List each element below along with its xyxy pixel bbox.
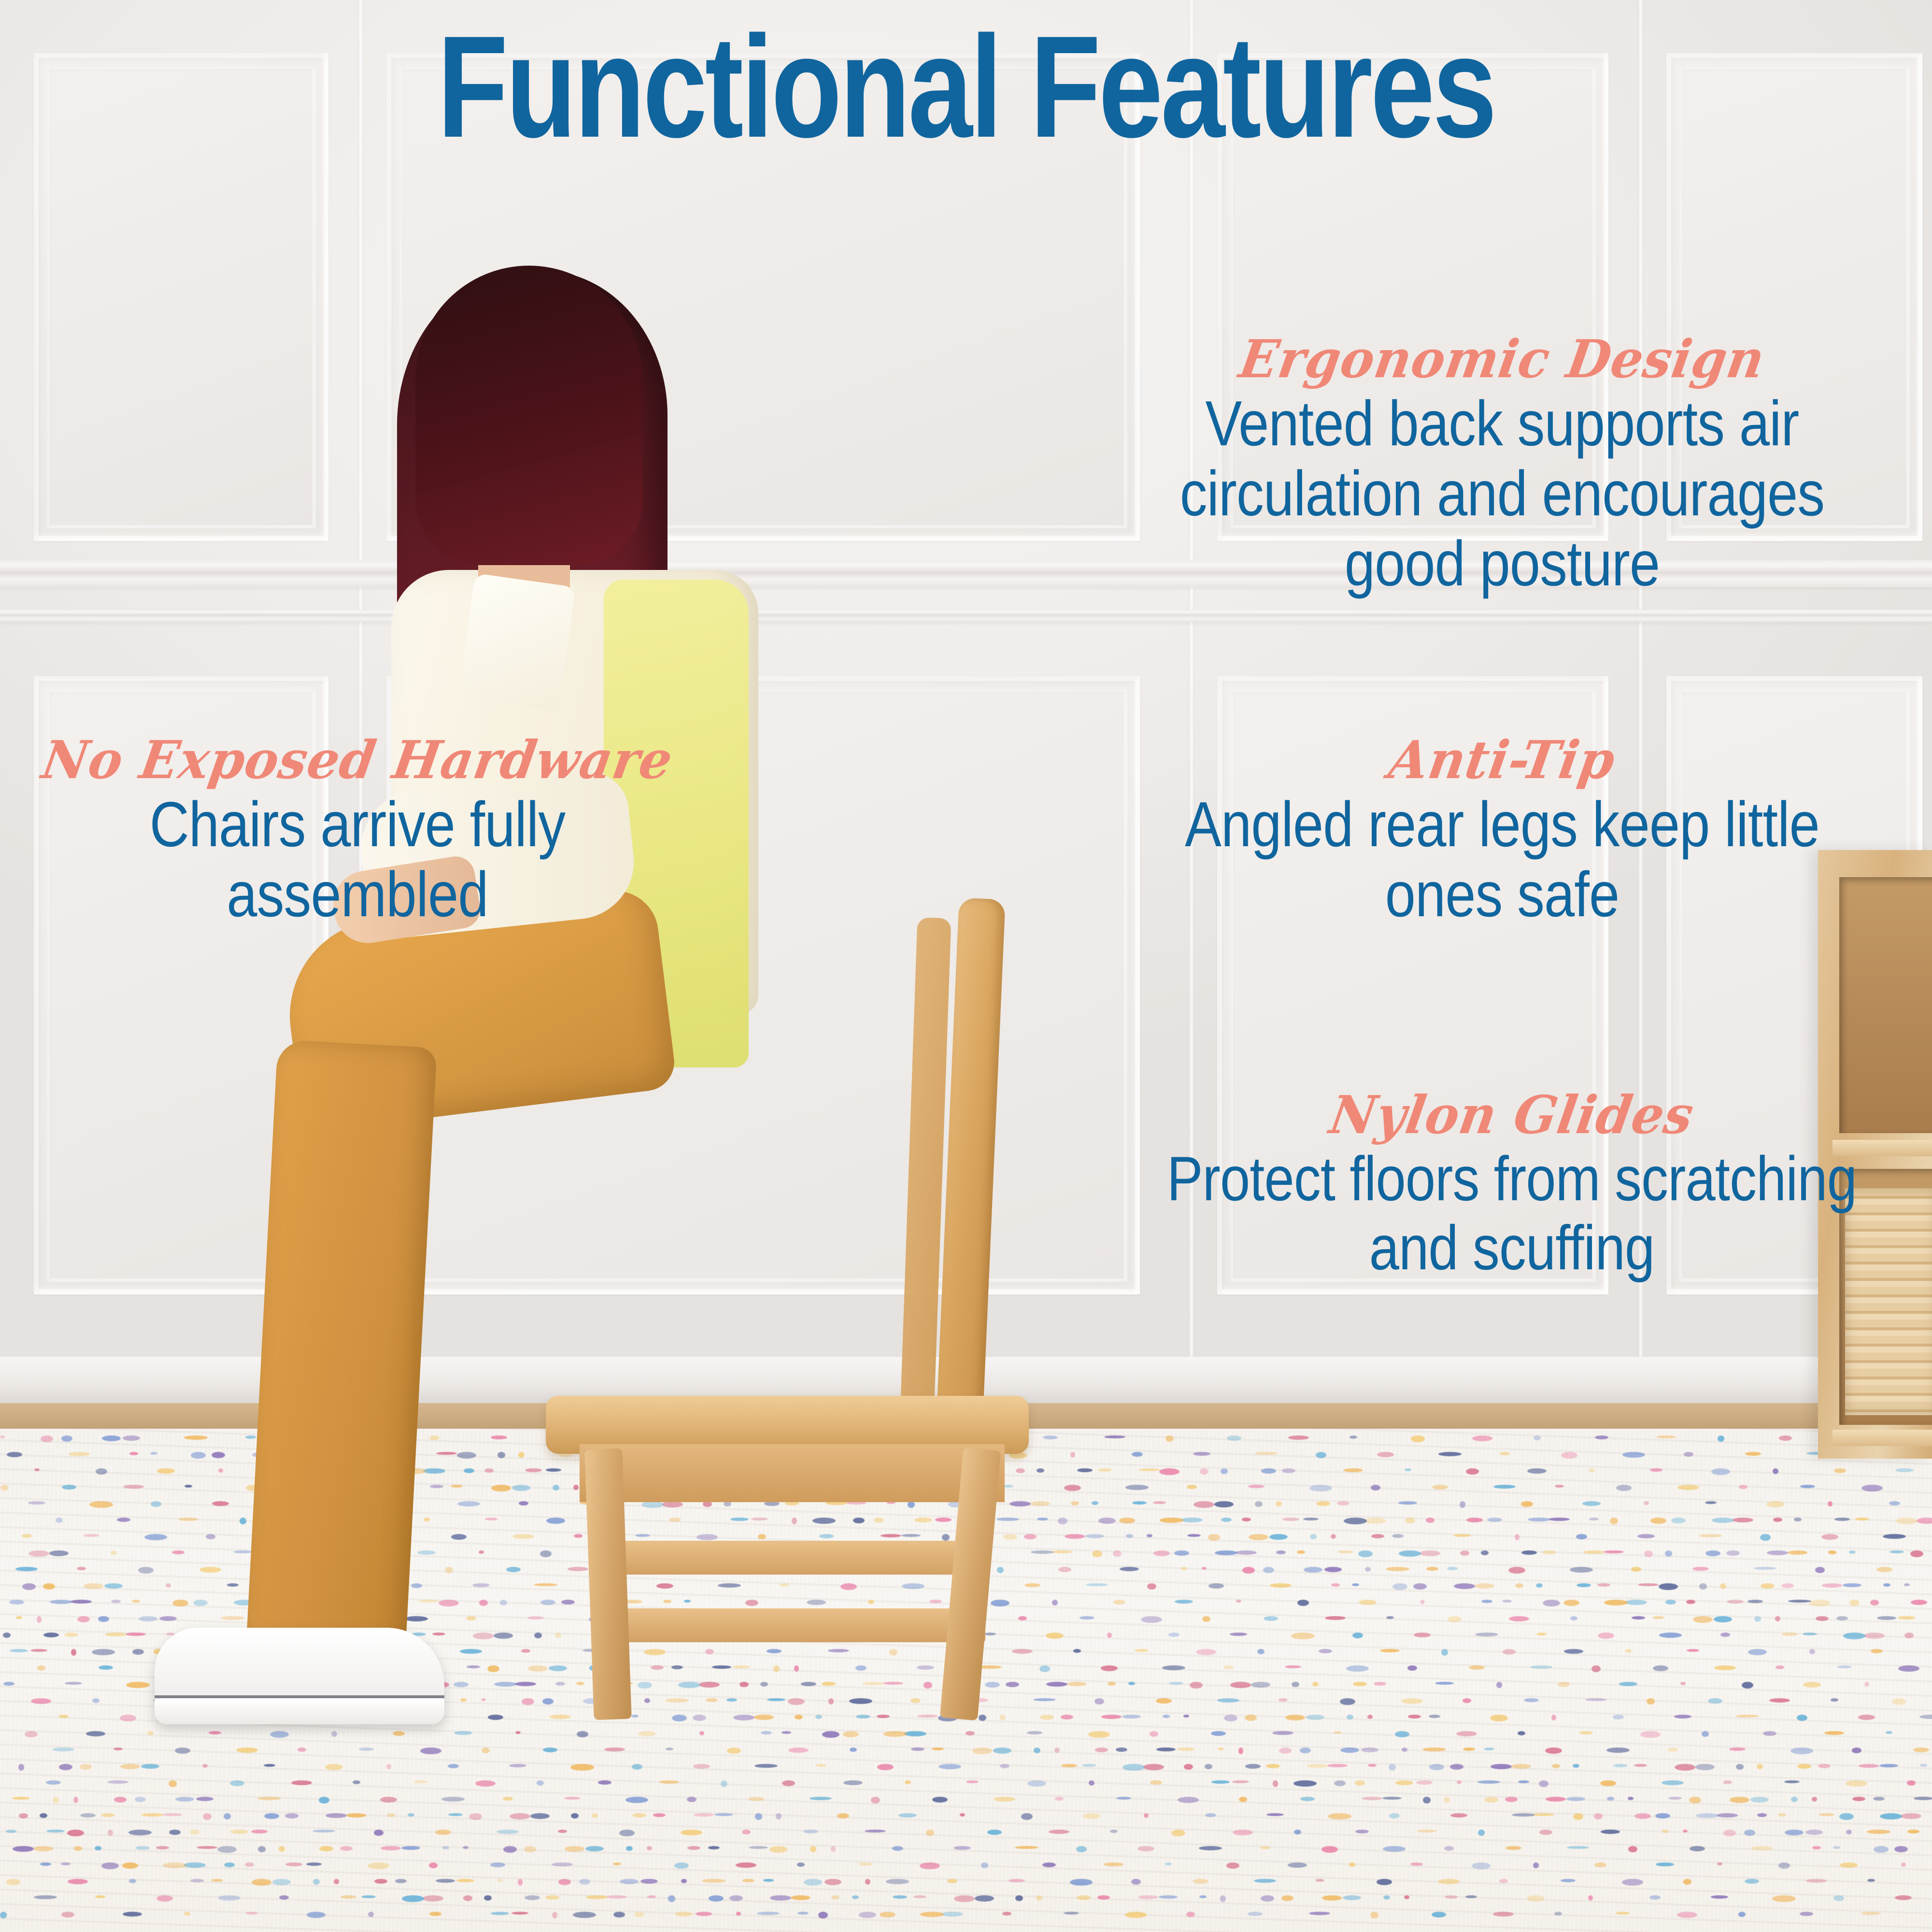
rug-fleck bbox=[1457, 1780, 1462, 1784]
rug-fleck bbox=[1751, 1846, 1773, 1850]
rug-fleck bbox=[7, 1452, 22, 1457]
rug-fleck bbox=[212, 1501, 229, 1506]
rug-fleck bbox=[1911, 1600, 1927, 1605]
rug-fleck bbox=[147, 1731, 154, 1735]
rug-fleck bbox=[1324, 1567, 1342, 1572]
rug-fleck bbox=[1552, 1764, 1560, 1768]
rug-fleck bbox=[240, 1518, 246, 1524]
rug-fleck bbox=[1370, 1912, 1378, 1918]
rug-fleck bbox=[123, 1435, 140, 1441]
rug-fleck bbox=[1616, 1485, 1632, 1491]
rug-fleck bbox=[831, 1846, 836, 1852]
rug-fleck bbox=[1788, 1600, 1811, 1603]
rug-fleck bbox=[1775, 1616, 1780, 1621]
rug-fleck bbox=[374, 1879, 387, 1884]
rug-fleck bbox=[1199, 1895, 1207, 1898]
rug-fleck bbox=[748, 1797, 764, 1801]
rug-fleck bbox=[1150, 1780, 1162, 1785]
rug-fleck bbox=[123, 1485, 144, 1489]
rug-fleck bbox=[414, 1780, 428, 1783]
rug-fleck bbox=[769, 1846, 787, 1853]
rug-fleck bbox=[1861, 1912, 1881, 1915]
rug-fleck bbox=[1276, 1550, 1286, 1554]
rug-fleck bbox=[1285, 1715, 1305, 1720]
rug-fleck bbox=[1803, 1633, 1817, 1635]
rug-fleck bbox=[1200, 1468, 1208, 1475]
rug-fleck bbox=[1408, 1715, 1421, 1719]
rug-fleck bbox=[1864, 1633, 1885, 1639]
rug-fleck bbox=[1383, 1895, 1390, 1900]
rug-fleck bbox=[448, 1813, 463, 1816]
rug-fleck bbox=[1049, 1830, 1069, 1834]
rug-fleck bbox=[279, 1846, 285, 1852]
rug-fleck bbox=[975, 1895, 994, 1902]
rug-fleck bbox=[1717, 1862, 1722, 1865]
rug-fleck bbox=[1279, 1747, 1292, 1754]
rug-fleck bbox=[1594, 1862, 1606, 1867]
rug-fleck bbox=[217, 1846, 237, 1853]
rug-fleck bbox=[1021, 1813, 1033, 1820]
rug-fleck bbox=[1566, 1797, 1585, 1801]
rug-fleck bbox=[1261, 1468, 1276, 1474]
rug-fleck bbox=[858, 1862, 872, 1866]
rug-fleck bbox=[1896, 1518, 1918, 1524]
rug-fleck bbox=[1232, 1780, 1249, 1783]
rug-fleck bbox=[1276, 1501, 1282, 1506]
rug-fleck bbox=[1294, 1830, 1301, 1834]
rug-fleck bbox=[1496, 1682, 1502, 1688]
rug-fleck bbox=[1675, 1764, 1695, 1771]
rug-fleck bbox=[524, 1846, 536, 1852]
rug-fleck bbox=[1469, 1665, 1485, 1670]
rug-fleck bbox=[1365, 1567, 1371, 1572]
rug-fleck bbox=[92, 1698, 99, 1703]
rug-fleck bbox=[1561, 1452, 1577, 1459]
rug-fleck bbox=[865, 1879, 870, 1885]
rug-fleck bbox=[368, 1912, 374, 1917]
rug-fleck bbox=[1738, 1912, 1746, 1917]
rug-fleck bbox=[227, 1583, 239, 1587]
rug-fleck bbox=[1466, 1468, 1479, 1475]
rug-fleck bbox=[18, 1764, 24, 1771]
rug-fleck bbox=[742, 1830, 751, 1834]
rug-fleck bbox=[626, 1846, 633, 1851]
rug-fleck bbox=[1238, 1747, 1243, 1754]
rug-fleck bbox=[1352, 1633, 1363, 1638]
rug-fleck bbox=[61, 1862, 71, 1865]
rug-fleck bbox=[1221, 1468, 1228, 1474]
rug-fleck bbox=[1500, 1452, 1510, 1455]
rug-fleck bbox=[1720, 1583, 1726, 1589]
rug-fleck bbox=[1708, 1698, 1722, 1704]
rug-fleck bbox=[886, 1879, 909, 1884]
rug-fleck bbox=[258, 1846, 266, 1852]
rug-fleck bbox=[374, 1830, 384, 1836]
rug-fleck bbox=[1355, 1780, 1365, 1786]
rug-fleck bbox=[668, 1895, 675, 1902]
rug-fleck bbox=[1444, 1797, 1450, 1803]
rug-fleck bbox=[387, 1813, 395, 1817]
rug-fleck bbox=[141, 1764, 159, 1769]
rug-fleck bbox=[1015, 1895, 1023, 1901]
rug-fleck bbox=[1478, 1830, 1485, 1836]
rug-fleck bbox=[436, 1879, 455, 1883]
rug-fleck bbox=[1640, 1731, 1661, 1738]
rug-fleck bbox=[1248, 1912, 1263, 1916]
rug-fleck bbox=[402, 1895, 424, 1902]
rug-fleck bbox=[1870, 1600, 1879, 1605]
rug-fleck bbox=[306, 1862, 322, 1866]
rug-fleck bbox=[175, 1747, 190, 1754]
rug-fleck bbox=[326, 1813, 347, 1818]
rug-fleck bbox=[1450, 1813, 1467, 1818]
rug-fleck bbox=[1266, 1764, 1280, 1768]
rug-fleck bbox=[272, 1879, 291, 1885]
rug-fleck bbox=[1665, 1550, 1672, 1557]
rug-fleck bbox=[6, 1830, 16, 1833]
rug-fleck bbox=[558, 1879, 571, 1885]
rug-fleck bbox=[3, 1633, 11, 1638]
rug-fleck bbox=[1536, 1583, 1543, 1588]
rug-fleck bbox=[380, 1797, 397, 1803]
rug-fleck bbox=[469, 1813, 482, 1820]
rug-fleck bbox=[80, 1813, 96, 1818]
rug-fleck bbox=[1742, 1682, 1753, 1689]
rug-fleck bbox=[1812, 1797, 1817, 1802]
rug-fleck bbox=[1304, 1567, 1322, 1573]
rug-fleck bbox=[1717, 1813, 1738, 1818]
rug-fleck bbox=[0, 1912, 7, 1918]
rug-fleck bbox=[1656, 1862, 1674, 1866]
rug-fleck bbox=[1750, 1797, 1769, 1803]
rug-fleck bbox=[1472, 1862, 1491, 1869]
rug-fleck bbox=[16, 1616, 22, 1619]
rug-fleck bbox=[1805, 1830, 1823, 1835]
rug-fleck bbox=[1907, 1780, 1916, 1786]
rug-fleck bbox=[1570, 1567, 1593, 1573]
rug-fleck bbox=[1358, 1550, 1373, 1557]
rug-fleck bbox=[1353, 1682, 1367, 1686]
rug-fleck bbox=[52, 1747, 74, 1751]
rug-fleck bbox=[221, 1616, 244, 1620]
rug-fleck bbox=[1089, 1780, 1094, 1786]
rug-fleck bbox=[1809, 1649, 1815, 1654]
rug-fleck bbox=[62, 1485, 76, 1490]
rug-fleck bbox=[1714, 1616, 1732, 1622]
rug-fleck bbox=[647, 1846, 652, 1850]
rug-fleck bbox=[166, 1583, 171, 1588]
rug-fleck bbox=[203, 1813, 212, 1820]
rug-fleck bbox=[1653, 1665, 1668, 1671]
rug-fleck bbox=[1082, 1813, 1100, 1819]
rug-fleck bbox=[1656, 1435, 1676, 1438]
rug-fleck bbox=[791, 1895, 810, 1900]
rug-fleck bbox=[169, 1780, 177, 1787]
rug-fleck bbox=[1828, 1550, 1836, 1554]
rug-fleck bbox=[429, 1912, 441, 1916]
rug-fleck bbox=[1364, 1518, 1386, 1524]
rug-fleck bbox=[1077, 1895, 1091, 1900]
rug-fleck bbox=[95, 1846, 101, 1850]
rug-fleck bbox=[1655, 1813, 1670, 1818]
rug-fleck bbox=[319, 1797, 329, 1804]
rug-fleck bbox=[1834, 1518, 1850, 1521]
rug-fleck bbox=[1855, 1518, 1869, 1520]
rug-fleck bbox=[1171, 1830, 1185, 1836]
feature-block-nylon: Nylon Glides Protect floors from scratch… bbox=[1101, 1089, 1922, 1282]
collar bbox=[458, 573, 576, 712]
rug-fleck bbox=[1444, 1846, 1454, 1851]
rug-fleck bbox=[1745, 1452, 1761, 1456]
rug-fleck bbox=[837, 1813, 849, 1818]
rug-fleck bbox=[291, 1780, 312, 1785]
rug-fleck bbox=[1861, 1485, 1883, 1492]
rug-fleck bbox=[1668, 1797, 1682, 1800]
rug-fleck bbox=[1904, 1633, 1914, 1638]
rug-fleck bbox=[1736, 1764, 1744, 1770]
rug-fleck bbox=[197, 1846, 217, 1849]
rug-fleck bbox=[491, 1912, 509, 1915]
rug-fleck bbox=[1533, 1862, 1539, 1868]
rug-fleck bbox=[441, 1797, 465, 1802]
rug-fleck bbox=[810, 1846, 816, 1852]
rug-fleck bbox=[1211, 1780, 1230, 1784]
rug-fleck bbox=[1082, 1764, 1096, 1767]
rug-fleck bbox=[1671, 1518, 1686, 1523]
rug-fleck bbox=[89, 1501, 113, 1508]
rug-fleck bbox=[1754, 1616, 1761, 1622]
feature-block-hardware: No Exposed Hardware Chairs arrive fully … bbox=[24, 734, 691, 929]
rug-fleck bbox=[202, 1764, 208, 1768]
rug-fleck bbox=[1263, 1567, 1274, 1573]
rug-fleck bbox=[1812, 1846, 1821, 1849]
rug-fleck bbox=[1402, 1747, 1407, 1752]
rug-fleck bbox=[211, 1879, 223, 1882]
rug-fleck bbox=[1392, 1583, 1407, 1590]
rug-fleck bbox=[1828, 1501, 1833, 1506]
rug-fleck bbox=[681, 1830, 702, 1835]
rug-fleck bbox=[497, 1879, 503, 1882]
rug-fleck bbox=[1261, 1895, 1274, 1902]
rug-fleck bbox=[408, 1813, 414, 1817]
rug-fleck bbox=[230, 1780, 244, 1786]
rug-fleck bbox=[1718, 1435, 1724, 1442]
rug-fleck bbox=[1159, 1895, 1178, 1899]
rug-fleck bbox=[196, 1797, 213, 1801]
rug-fleck bbox=[1382, 1797, 1402, 1800]
rug-fleck bbox=[264, 1764, 275, 1767]
feature-heading-antitip: Anti-Tip bbox=[1136, 734, 1868, 786]
rug-fleck bbox=[1687, 1649, 1699, 1652]
rug-fleck bbox=[61, 1912, 74, 1918]
rug-fleck bbox=[1723, 1830, 1736, 1836]
rug-fleck bbox=[1334, 1780, 1346, 1786]
rug-fleck bbox=[714, 1813, 733, 1816]
rug-fleck bbox=[319, 1846, 333, 1851]
rug-fleck bbox=[46, 1780, 61, 1785]
rug-fleck bbox=[920, 1862, 940, 1869]
rug-fleck bbox=[1214, 1501, 1234, 1507]
rug-fleck bbox=[1628, 1797, 1634, 1800]
rug-fleck bbox=[1821, 1534, 1838, 1540]
rug-fleck bbox=[1349, 1862, 1355, 1867]
rug-fleck bbox=[144, 1534, 167, 1540]
rug-fleck bbox=[1202, 1567, 1207, 1570]
rug-fleck bbox=[552, 1912, 557, 1918]
rug-fleck bbox=[757, 1912, 780, 1915]
rug-fleck bbox=[647, 1895, 656, 1898]
rug-fleck bbox=[1763, 1731, 1776, 1736]
rug-fleck bbox=[1567, 1846, 1589, 1849]
rug-fleck bbox=[22, 1583, 36, 1590]
rug-fleck bbox=[41, 1435, 53, 1442]
rug-fleck bbox=[503, 1846, 517, 1853]
rug-fleck bbox=[755, 1813, 762, 1820]
rug-fleck bbox=[132, 1600, 140, 1603]
rug-fleck bbox=[675, 1912, 693, 1917]
rug-fleck bbox=[1407, 1665, 1417, 1671]
rug-fleck bbox=[159, 1616, 177, 1621]
rug-fleck bbox=[1398, 1501, 1417, 1505]
rug-fleck bbox=[463, 1846, 469, 1849]
rug-fleck bbox=[1846, 1780, 1867, 1787]
rug-fleck bbox=[1778, 1862, 1790, 1869]
rug-fleck bbox=[34, 1895, 57, 1899]
rug-fleck bbox=[941, 1912, 963, 1917]
rug-fleck bbox=[1186, 1912, 1195, 1917]
rug-fleck bbox=[1340, 1698, 1355, 1705]
rug-fleck bbox=[803, 1830, 818, 1833]
rug-fleck bbox=[163, 1862, 186, 1868]
rug-fleck bbox=[1374, 1682, 1386, 1686]
rug-fleck bbox=[1337, 1550, 1353, 1553]
rug-fleck bbox=[1831, 1698, 1838, 1702]
rug-fleck bbox=[107, 1780, 128, 1784]
rug-fleck bbox=[135, 1846, 150, 1850]
rug-fleck bbox=[111, 1600, 121, 1603]
rug-fleck bbox=[1895, 1468, 1914, 1472]
rug-fleck bbox=[128, 1830, 152, 1835]
rug-fleck bbox=[1726, 1550, 1740, 1556]
rug-fleck bbox=[1055, 1797, 1064, 1801]
rug-fleck bbox=[1465, 1895, 1477, 1898]
rug-fleck bbox=[1604, 1600, 1628, 1605]
rug-fleck bbox=[653, 1813, 666, 1817]
rug-fleck bbox=[1686, 1600, 1695, 1604]
rug-fleck bbox=[1411, 1435, 1425, 1442]
rug-fleck bbox=[86, 1731, 105, 1736]
rug-fleck bbox=[1328, 1813, 1351, 1819]
rug-fleck bbox=[1689, 1797, 1701, 1804]
rug-fleck bbox=[1322, 1895, 1342, 1901]
rug-fleck bbox=[632, 1813, 646, 1818]
rug-fleck bbox=[1193, 1879, 1208, 1884]
rug-fleck bbox=[1281, 1895, 1293, 1901]
rug-fleck bbox=[1917, 1518, 1932, 1524]
rug-fleck bbox=[893, 1895, 907, 1899]
rug-fleck bbox=[1477, 1780, 1500, 1784]
rug-fleck bbox=[156, 1895, 173, 1902]
rug-fleck bbox=[13, 1846, 34, 1852]
rug-fleck bbox=[1236, 1600, 1241, 1603]
rug-fleck bbox=[1395, 1731, 1409, 1737]
rug-fleck bbox=[1487, 1518, 1502, 1522]
rug-fleck bbox=[920, 1912, 944, 1917]
rug-fleck bbox=[1463, 1698, 1471, 1703]
rug-fleck bbox=[71, 1600, 92, 1604]
rug-fleck bbox=[1399, 1550, 1421, 1557]
rug-fleck bbox=[1527, 1895, 1545, 1902]
rug-fleck bbox=[1015, 1846, 1038, 1849]
rug-fleck bbox=[1211, 1731, 1226, 1736]
rug-fleck bbox=[1720, 1633, 1730, 1637]
rug-fleck bbox=[1472, 1435, 1492, 1441]
rug-fleck bbox=[1187, 1534, 1201, 1537]
rug-fleck bbox=[1454, 1583, 1475, 1589]
rug-fleck bbox=[1413, 1583, 1427, 1590]
rug-fleck bbox=[1404, 1895, 1409, 1899]
rug-fleck bbox=[1794, 1518, 1802, 1521]
rug-fleck bbox=[1545, 1747, 1562, 1754]
rug-fleck bbox=[1319, 1649, 1332, 1653]
rug-fleck bbox=[1325, 1616, 1346, 1620]
rug-fleck bbox=[1867, 1879, 1875, 1882]
rug-fleck bbox=[122, 1862, 138, 1869]
feature-heading-ergonomic: Ergonomic Design bbox=[1136, 333, 1868, 385]
rug-fleck bbox=[1846, 1830, 1852, 1834]
rug-fleck bbox=[694, 1813, 714, 1817]
rug-fleck bbox=[1843, 1633, 1865, 1639]
rug-fleck bbox=[1309, 1485, 1332, 1492]
rug-fleck bbox=[681, 1879, 687, 1883]
rug-fleck bbox=[1070, 1879, 1093, 1886]
rug-fleck bbox=[0, 1485, 9, 1491]
rug-fleck bbox=[1307, 1764, 1328, 1768]
rug-fleck bbox=[1224, 1715, 1237, 1721]
rug-fleck bbox=[346, 1813, 366, 1818]
rug-fleck bbox=[1226, 1862, 1239, 1869]
rug-fleck bbox=[230, 1830, 248, 1834]
rug-fleck bbox=[325, 1764, 343, 1770]
rug-fleck bbox=[1245, 1764, 1261, 1769]
rug-fleck bbox=[1901, 1862, 1906, 1867]
rug-fleck bbox=[114, 1747, 123, 1750]
product-feature-graphic: Functional Features Ergonomic Design Ven… bbox=[0, 0, 1932, 1932]
rug-fleck bbox=[19, 1813, 28, 1818]
rug-fleck bbox=[1551, 1715, 1556, 1720]
feature-body-hardware: Chairs arrive fully assembled bbox=[71, 789, 644, 929]
rug-fleck bbox=[1625, 1600, 1647, 1605]
rug-fleck bbox=[709, 1895, 724, 1902]
rug-fleck bbox=[1395, 1780, 1413, 1785]
rug-fleck bbox=[905, 1780, 911, 1784]
rug-fleck bbox=[209, 1731, 221, 1734]
rug-fleck bbox=[135, 1797, 146, 1802]
rug-fleck bbox=[816, 1764, 826, 1767]
seated-woman bbox=[270, 270, 1188, 1753]
rug-fleck bbox=[28, 1550, 49, 1557]
rug-fleck bbox=[22, 1534, 32, 1538]
rug-fleck bbox=[1659, 1583, 1678, 1590]
rug-fleck bbox=[1867, 1830, 1890, 1834]
rug-fleck bbox=[1622, 1452, 1645, 1458]
rug-fleck bbox=[1674, 1715, 1691, 1719]
rug-fleck bbox=[1833, 1846, 1840, 1849]
rug-fleck bbox=[1236, 1550, 1257, 1555]
rug-fleck bbox=[1699, 1583, 1707, 1590]
trousers-leg bbox=[244, 1039, 437, 1694]
rug-fleck bbox=[1806, 1879, 1827, 1883]
